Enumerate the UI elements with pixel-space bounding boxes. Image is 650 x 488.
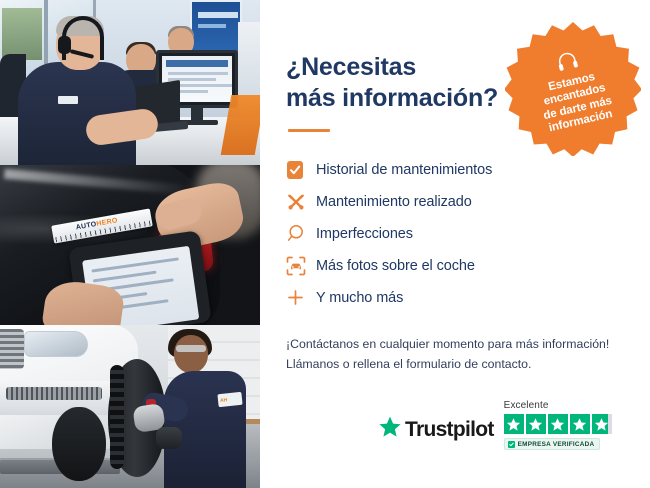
car-inspection-ruler-photo: AUTOHERO: [0, 165, 260, 325]
mechanic-safety-glasses: [176, 345, 206, 352]
window-greenery: [2, 8, 42, 60]
feature-item-mantenimiento: Mantenimiento realizado: [286, 186, 624, 217]
tablet-row: [93, 271, 157, 283]
star-rating: [504, 414, 612, 434]
verified-label: EMPRESA VERIFICADA: [518, 441, 595, 448]
mechanic-head: [174, 335, 208, 373]
content-panel: ¿Necesitas más información? Historial de…: [260, 0, 650, 488]
poster-strip: [198, 12, 238, 18]
tire-tread: [110, 365, 124, 469]
headset-icon: [554, 49, 580, 77]
headline-line-1: ¿Necesitas: [286, 53, 416, 81]
feature-item-imperfecciones: Imperfecciones: [286, 218, 624, 249]
crossed-tools-icon: [286, 192, 316, 212]
paragraph-line-1: ¡Contáctanos en cualquier momento para m…: [286, 335, 624, 355]
badge-text: Estamos encantados de darte más informac…: [536, 68, 616, 136]
monitor-row: [168, 72, 228, 75]
trustpilot-star-icon: [378, 415, 402, 444]
promo-starburst-badge: Estamos encantados de darte más informac…: [505, 20, 641, 156]
car-grille: [0, 329, 24, 369]
poster-strip-2: [198, 24, 226, 28]
call-center-agents-photo: [0, 0, 260, 165]
star-filled: [570, 414, 590, 434]
car-headlight: [24, 331, 88, 357]
monitor-app-bar: [166, 60, 228, 67]
star-partial: [592, 414, 612, 434]
trustpilot-rating: Excelente: [504, 400, 612, 450]
feature-label: Imperfecciones: [316, 226, 413, 242]
star-filled: [504, 414, 524, 434]
headline-line-2: más información?: [286, 83, 516, 114]
title-divider: [288, 129, 330, 132]
paragraph-line-2: Llámanos o rellena el formulario de cont…: [286, 355, 624, 375]
agent-1-name-badge: [58, 96, 78, 104]
car-air-vent: [6, 387, 102, 400]
info-card: AUTOHERO: [0, 0, 650, 488]
verified-business-badge: EMPRESA VERIFICADA: [504, 438, 601, 450]
feature-label: Más fotos sobre el coche: [316, 258, 475, 274]
verified-check-icon: [508, 441, 515, 448]
feature-item-fotos: Más fotos sobre el coche: [286, 250, 624, 281]
trustpilot-wordmark: Trustpilot: [405, 418, 494, 442]
car-photo-frame-icon: [286, 256, 316, 276]
tablet-row: [91, 257, 179, 272]
feature-item-mas: Y mucho más: [286, 282, 624, 313]
feature-label: Mantenimiento realizado: [316, 194, 472, 210]
page-title: ¿Necesitas más información?: [286, 52, 516, 113]
contact-paragraph: ¡Contáctanos en cualquier momento para m…: [286, 335, 624, 375]
magnifier-icon: [286, 224, 316, 243]
badge-mark: AH: [220, 397, 228, 404]
feature-item-historial: Historial de mantenimientos: [286, 154, 624, 185]
plus-icon: [286, 288, 316, 307]
trustpilot-block[interactable]: Trustpilot Excelente: [378, 400, 612, 450]
agent-headset-cup: [58, 36, 71, 54]
feature-list: Historial de mantenimientos M: [286, 154, 624, 313]
star-filled: [548, 414, 568, 434]
rating-label: Excelente: [504, 400, 549, 411]
feature-label: Historial de mantenimientos: [316, 162, 492, 178]
trustpilot-logo[interactable]: Trustpilot: [378, 415, 494, 450]
clipboard-check-icon: [286, 160, 316, 180]
mechanic-glove-lower: [156, 427, 182, 449]
photo-column: AUTOHERO: [0, 0, 260, 488]
mechanic-wheel-inspection-photo: AH: [0, 325, 260, 488]
star-filled: [526, 414, 546, 434]
rear-wheel: [52, 407, 106, 481]
mechanic-logo-badge: AH: [217, 392, 242, 407]
feature-label: Y mucho más: [316, 290, 403, 306]
